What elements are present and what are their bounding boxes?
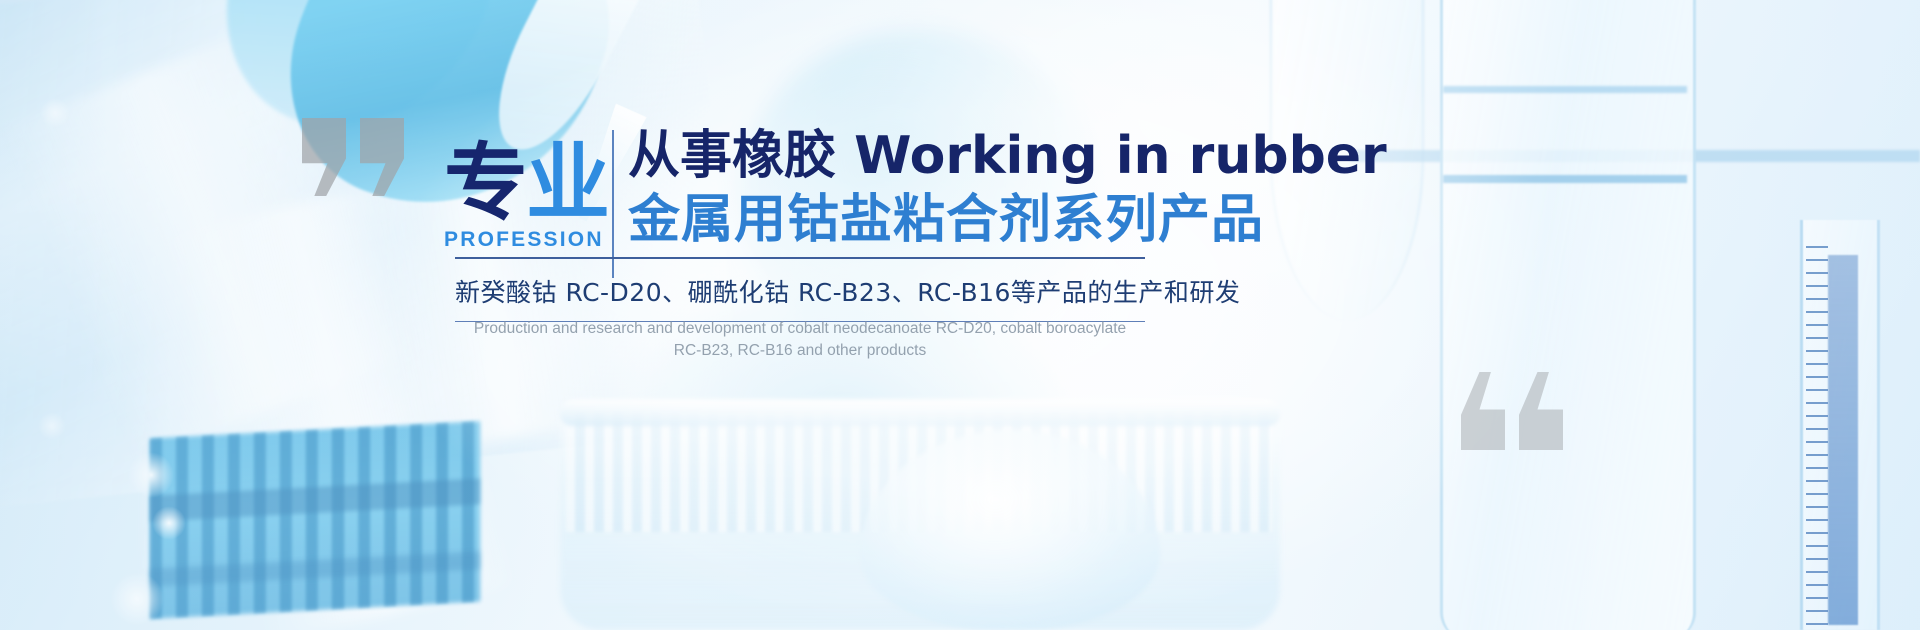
logo-english-label: PROFESSION	[444, 228, 600, 252]
logo-char-zhuan: 专	[444, 134, 526, 232]
subline-rule-box: 新癸酸钴 RC-D20、硼酰化钴 RC-B23、RC-B16等产品的生产和研发	[455, 257, 1145, 322]
headline-line-1: 从事橡胶 Working in rubber	[628, 124, 1488, 188]
english-line-2: RC-B23, RC-B16 and other products	[455, 340, 1145, 362]
promo-banner: 专业 PROFESSION 从事橡胶 Working in rubber 金属用…	[0, 0, 1920, 630]
product-subline: 新癸酸钴 RC-D20、硼酰化钴 RC-B23、RC-B16等产品的生产和研发	[455, 273, 1145, 309]
headline-line-2: 金属用钴盐粘合剂系列产品	[628, 188, 1488, 252]
profession-logo: 专业 PROFESSION	[444, 140, 600, 252]
english-line-1: Production and research and development …	[455, 318, 1145, 340]
banner-content: 专业 PROFESSION 从事橡胶 Working in rubber 金属用…	[0, 0, 1920, 630]
english-translation-group: Production and research and development …	[455, 318, 1145, 362]
headline-group: 从事橡胶 Working in rubber 金属用钴盐粘合剂系列产品	[628, 124, 1488, 252]
logo-char-ye: 业	[526, 134, 608, 232]
logo-chinese-characters: 专业	[444, 140, 600, 226]
vertical-divider	[612, 130, 614, 278]
